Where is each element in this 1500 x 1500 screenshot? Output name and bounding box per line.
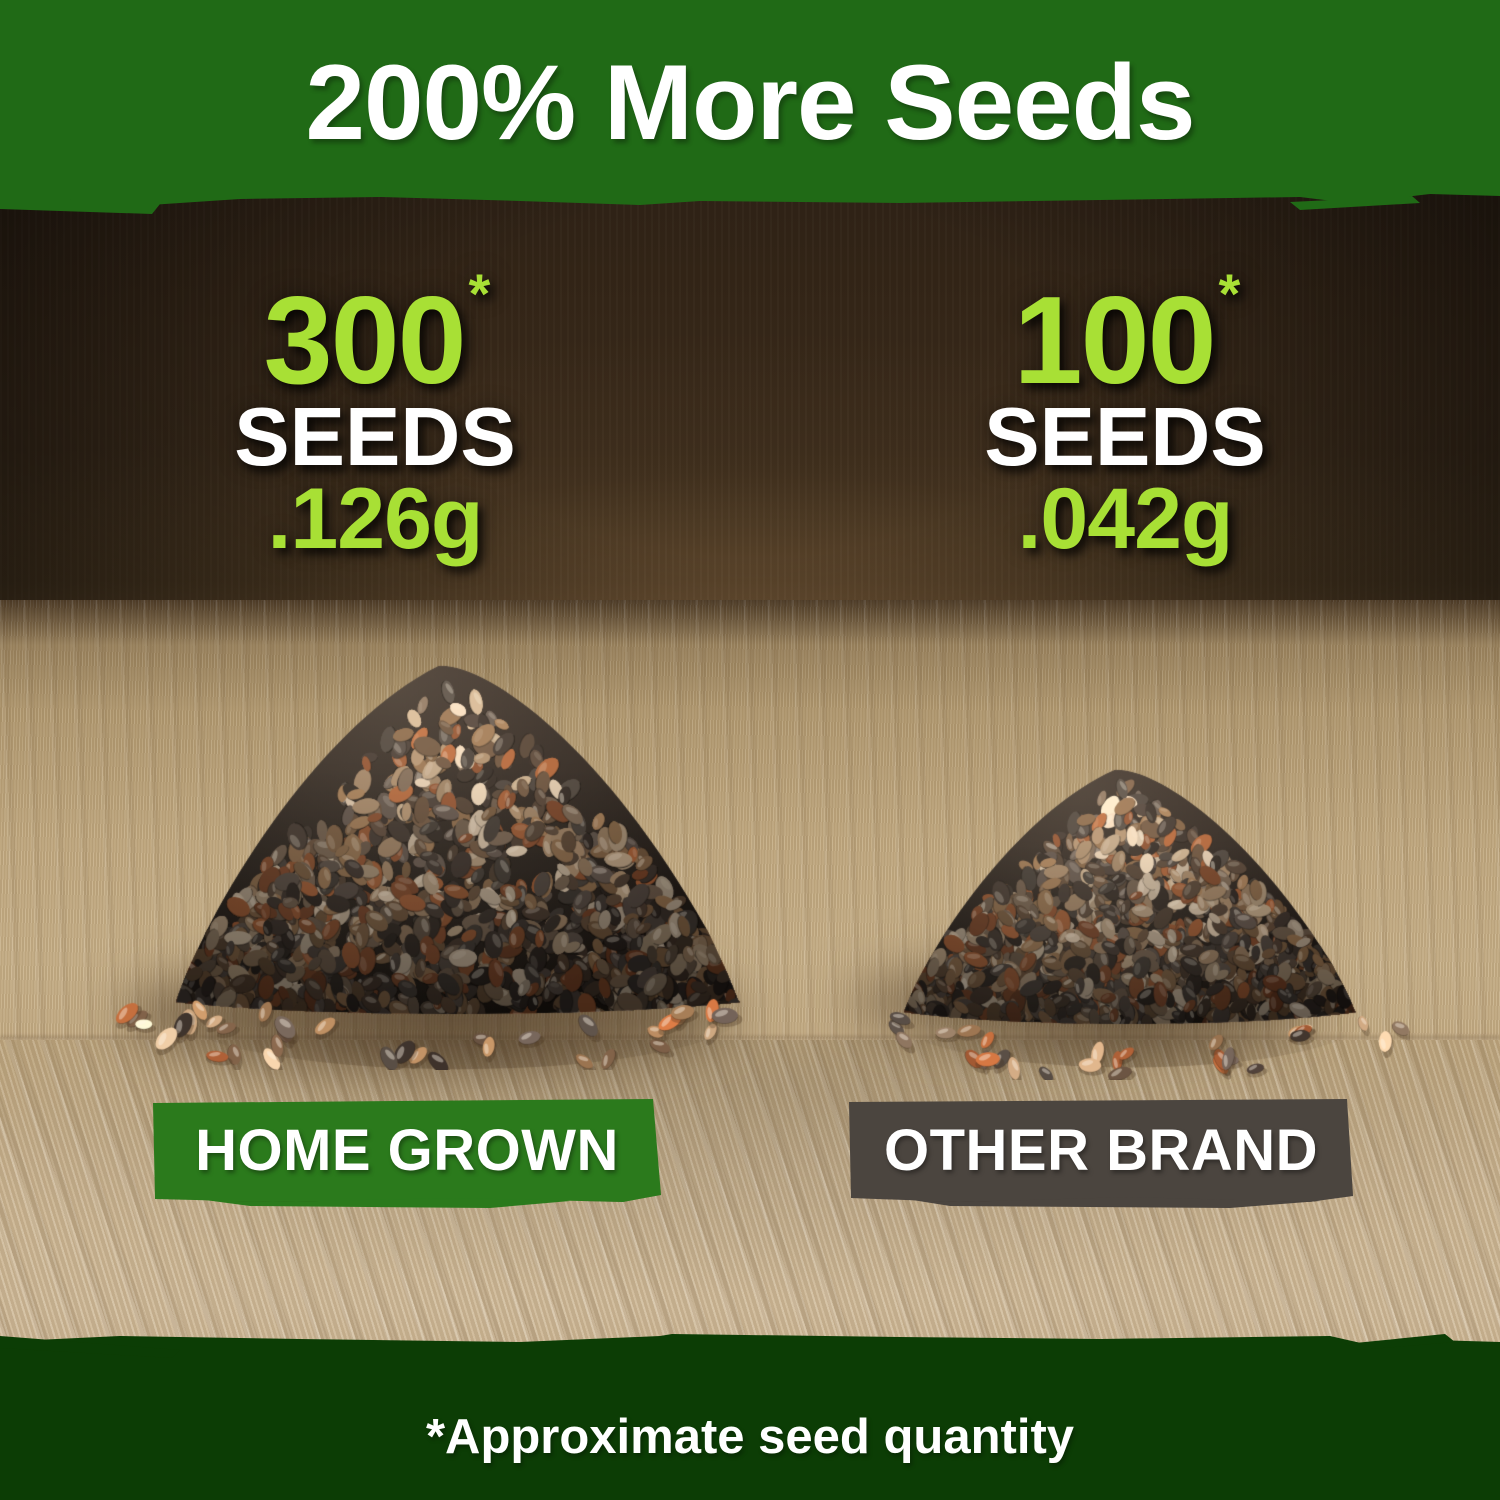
product-photo-background: [0, 0, 1500, 1500]
stat-column-home-grown: 300* SEEDS .126g: [0, 282, 750, 562]
brand-label-home-grown-text: HOME GROWN: [195, 1117, 619, 1184]
seed-count-value-left: 300*: [264, 282, 487, 401]
asterisk-marker-right: *: [1219, 262, 1241, 325]
seed-weight-right: .042g: [750, 476, 1500, 562]
page-title: 200% More Seeds: [0, 48, 1500, 157]
product-comparison-infographic: 200% More Seeds 300* SEEDS .126g 100* SE…: [0, 0, 1500, 1500]
seed-pile-home-grown: [110, 630, 810, 1070]
seed-count-number-left: 300: [264, 272, 465, 410]
stat-column-other-brand: 100* SEEDS .042g: [750, 282, 1500, 562]
brand-label-other-brand-text: OTHER BRAND: [884, 1117, 1318, 1184]
seed-count-value-right: 100*: [1014, 282, 1237, 401]
footnote-disclaimer: *Approximate seed quantity: [0, 1409, 1500, 1465]
brand-label-other-brand: OTHER BRAND: [849, 1099, 1353, 1202]
seed-count-number-right: 100: [1014, 272, 1215, 410]
seed-count-comparison: 300* SEEDS .126g 100* SEEDS .042g: [0, 282, 1500, 562]
asterisk-marker-left: *: [469, 262, 491, 325]
seed-pile-other-brand: [830, 740, 1410, 1080]
seed-weight-left: .126g: [0, 476, 750, 562]
brand-label-home-grown: HOME GROWN: [153, 1099, 661, 1202]
